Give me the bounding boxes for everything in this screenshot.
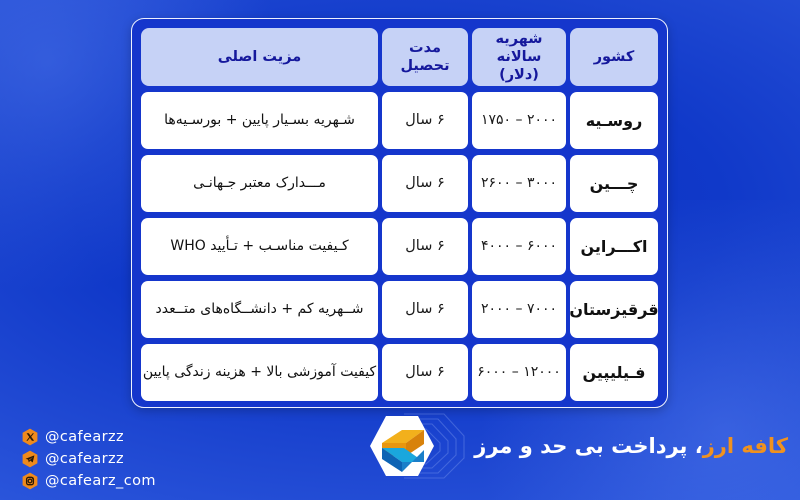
social-link-instagram[interactable]: @cafearz_com <box>22 471 156 490</box>
cell-country: قرقیزستان <box>570 281 658 338</box>
cell-advantage: مـــدارک معتبر جـهانـی <box>141 155 378 212</box>
advantage-value: شـهریه بسـیار پایین + بورسـیه‌ها <box>164 112 355 130</box>
duration-value: ۶ سال <box>405 363 445 381</box>
header-cell-advantage: مزیت اصلی <box>141 28 378 86</box>
country-value: قرقیزستان <box>570 300 658 320</box>
comparison-table-card: کشور شهریه سالانه (دلار) مدت تحصیل مزیت … <box>131 18 668 408</box>
duration-value: ۶ سال <box>405 174 445 192</box>
header-label-annual-fee-line2: (دلار) <box>499 66 539 84</box>
cell-country: اکـــراین <box>570 218 658 275</box>
cell-duration: ۶ سال <box>382 344 468 401</box>
social-link-telegram[interactable]: @cafearzz <box>22 449 156 468</box>
country-value: روسـیه <box>586 111 643 131</box>
table-row: روسـیه ۲۰۰۰ – ۱۷۵۰ ۶ سال شـهریه بسـیار پ… <box>141 92 658 149</box>
header-label-annual-fee-line1: شهریه سالانه <box>476 30 562 66</box>
cell-annual-fee: ۷۰۰۰ – ۲۰۰۰ <box>472 281 566 338</box>
cell-duration: ۶ سال <box>382 155 468 212</box>
annual-fee-value: ۱۲۰۰۰ – ۶۰۰۰ <box>477 364 561 382</box>
country-tuition-table: کشور شهریه سالانه (دلار) مدت تحصیل مزیت … <box>141 28 658 398</box>
annual-fee-value: ۲۰۰۰ – ۱۷۵۰ <box>481 112 557 130</box>
social-link-x[interactable]: @cafearzz <box>22 427 156 446</box>
screenshot-canvas: کشور شهریه سالانه (دلار) مدت تحصیل مزیت … <box>0 0 800 500</box>
cell-advantage: شــهریه کم + دانشــگاه‌های متــعدد <box>141 281 378 338</box>
duration-value: ۶ سال <box>405 300 445 318</box>
header-cell-annual-fee: شهریه سالانه (دلار) <box>472 28 566 86</box>
cell-country: روسـیه <box>570 92 658 149</box>
brand-name: کافه ارز <box>703 434 788 458</box>
annual-fee-value: ۳۰۰۰ – ۲۶۰۰ <box>481 175 557 193</box>
cafearz-logo <box>346 410 466 482</box>
social-handle-x: @cafearzz <box>45 429 124 445</box>
social-links-group: @cafearzz @cafearzz <box>22 427 156 490</box>
cell-annual-fee: ۲۰۰۰ – ۱۷۵۰ <box>472 92 566 149</box>
country-value: فـیلیپین <box>583 363 646 383</box>
brand-lockup: کافه ارز، پرداخت بی حد و مرز <box>346 410 788 482</box>
annual-fee-value: ۷۰۰۰ – ۲۰۰۰ <box>481 301 557 319</box>
header-label-country: کشور <box>594 48 635 66</box>
cell-annual-fee: ۶۰۰۰ – ۴۰۰۰ <box>472 218 566 275</box>
social-handle-instagram: @cafearz_com <box>45 473 156 489</box>
table-row: چـــین ۳۰۰۰ – ۲۶۰۰ ۶ سال مـــدارک معتبر … <box>141 155 658 212</box>
cell-duration: ۶ سال <box>382 92 468 149</box>
duration-value: ۶ سال <box>405 111 445 129</box>
table-row: فـیلیپین ۱۲۰۰۰ – ۶۰۰۰ ۶ سال کیفیت آموزشی… <box>141 344 658 401</box>
header-label-annual-fee: شهریه سالانه (دلار) <box>476 30 562 84</box>
header-label-duration: مدت تحصیل <box>386 39 464 75</box>
cell-country: فـیلیپین <box>570 344 658 401</box>
cell-advantage: کیفیت آموزشی بالا + هزینه زندگی پایین <box>141 344 378 401</box>
social-handle-telegram: @cafearzz <box>45 451 124 467</box>
telegram-icon <box>22 450 38 468</box>
cell-advantage: شـهریه بسـیار پایین + بورسـیه‌ها <box>141 92 378 149</box>
advantage-value: مـــدارک معتبر جـهانـی <box>193 175 326 193</box>
country-value: چـــین <box>590 174 639 194</box>
header-cell-duration: مدت تحصیل <box>382 28 468 86</box>
cell-annual-fee: ۳۰۰۰ – ۲۶۰۰ <box>472 155 566 212</box>
annual-fee-value: ۶۰۰۰ – ۴۰۰۰ <box>481 238 557 256</box>
advantage-value: کیفیت آموزشی بالا + هزینه زندگی پایین <box>143 364 376 382</box>
cell-duration: ۶ سال <box>382 281 468 338</box>
brand-slogan: کافه ارز، پرداخت بی حد و مرز <box>474 434 788 458</box>
cell-annual-fee: ۱۲۰۰۰ – ۶۰۰۰ <box>472 344 566 401</box>
table-header-row: کشور شهریه سالانه (دلار) مدت تحصیل مزیت … <box>141 28 658 86</box>
duration-value: ۶ سال <box>405 237 445 255</box>
footer-bar: @cafearzz @cafearzz <box>0 422 800 500</box>
brand-slogan-rest: ، پرداخت بی حد و مرز <box>474 434 702 458</box>
cell-duration: ۶ سال <box>382 218 468 275</box>
cell-advantage: کـیفیت مناسـب + تـأیید WHO <box>141 218 378 275</box>
instagram-icon <box>22 472 38 490</box>
x-twitter-icon <box>22 428 38 446</box>
cell-country: چـــین <box>570 155 658 212</box>
advantage-value: کـیفیت مناسـب + تـأیید WHO <box>170 238 348 256</box>
table-row: قرقیزستان ۷۰۰۰ – ۲۰۰۰ ۶ سال شــهریه کم +… <box>141 281 658 338</box>
table-row: اکـــراین ۶۰۰۰ – ۴۰۰۰ ۶ سال کـیفیت مناسـ… <box>141 218 658 275</box>
logo-hexagon-cube-icon <box>346 410 466 482</box>
header-cell-country: کشور <box>570 28 658 86</box>
header-label-advantage: مزیت اصلی <box>218 48 301 66</box>
country-value: اکـــراین <box>580 237 647 257</box>
advantage-value: شــهریه کم + دانشــگاه‌های متــعدد <box>156 301 364 319</box>
